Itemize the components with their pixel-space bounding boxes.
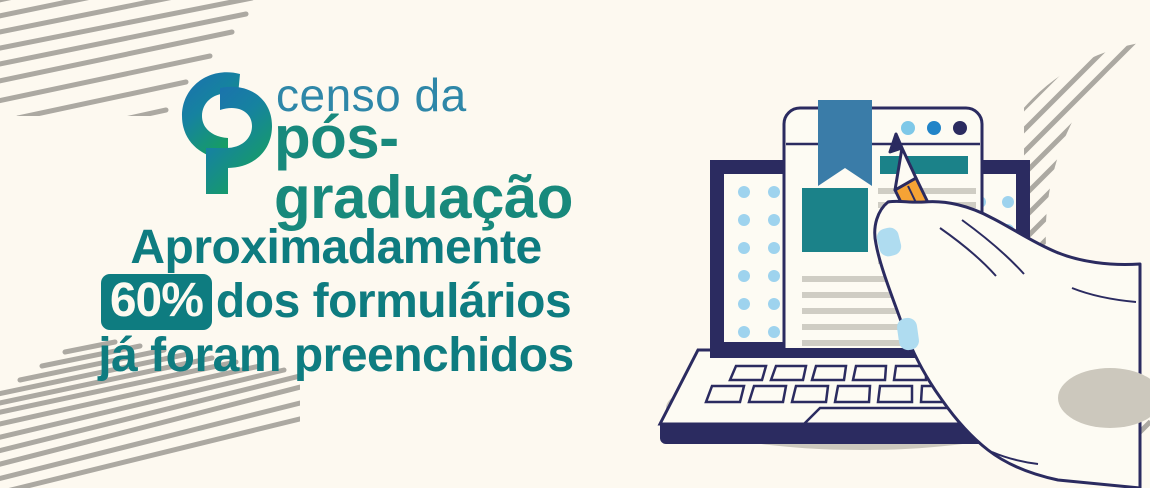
- headline-line-2-text: dos formulários: [216, 276, 571, 328]
- headline: Aproximadamente 60%dos formulários já fo…: [0, 222, 672, 382]
- headline-line-3: já foram preenchidos: [0, 330, 672, 382]
- percent-badge: 60%: [101, 274, 212, 330]
- logo-wordmark: censo da pós-graduação: [276, 64, 666, 194]
- logo: censo da pós-graduação: [176, 64, 666, 194]
- card-image-block: [802, 188, 868, 252]
- banner: censo da pós-graduação Aproximadamente 6…: [0, 0, 1150, 488]
- card-header-bar: [880, 156, 968, 174]
- window-dot-2: [927, 121, 941, 135]
- logo-line-pos-graduacao: pós-graduação: [274, 108, 666, 228]
- illustration-laptop-hand-pencil: [640, 60, 1150, 488]
- headline-line-1: Aproximadamente: [0, 222, 672, 274]
- logo-mark-icon: [176, 64, 280, 194]
- headline-line-2: 60%dos formulários: [0, 274, 672, 330]
- window-dot-1: [901, 121, 915, 135]
- window-dot-3: [953, 121, 967, 135]
